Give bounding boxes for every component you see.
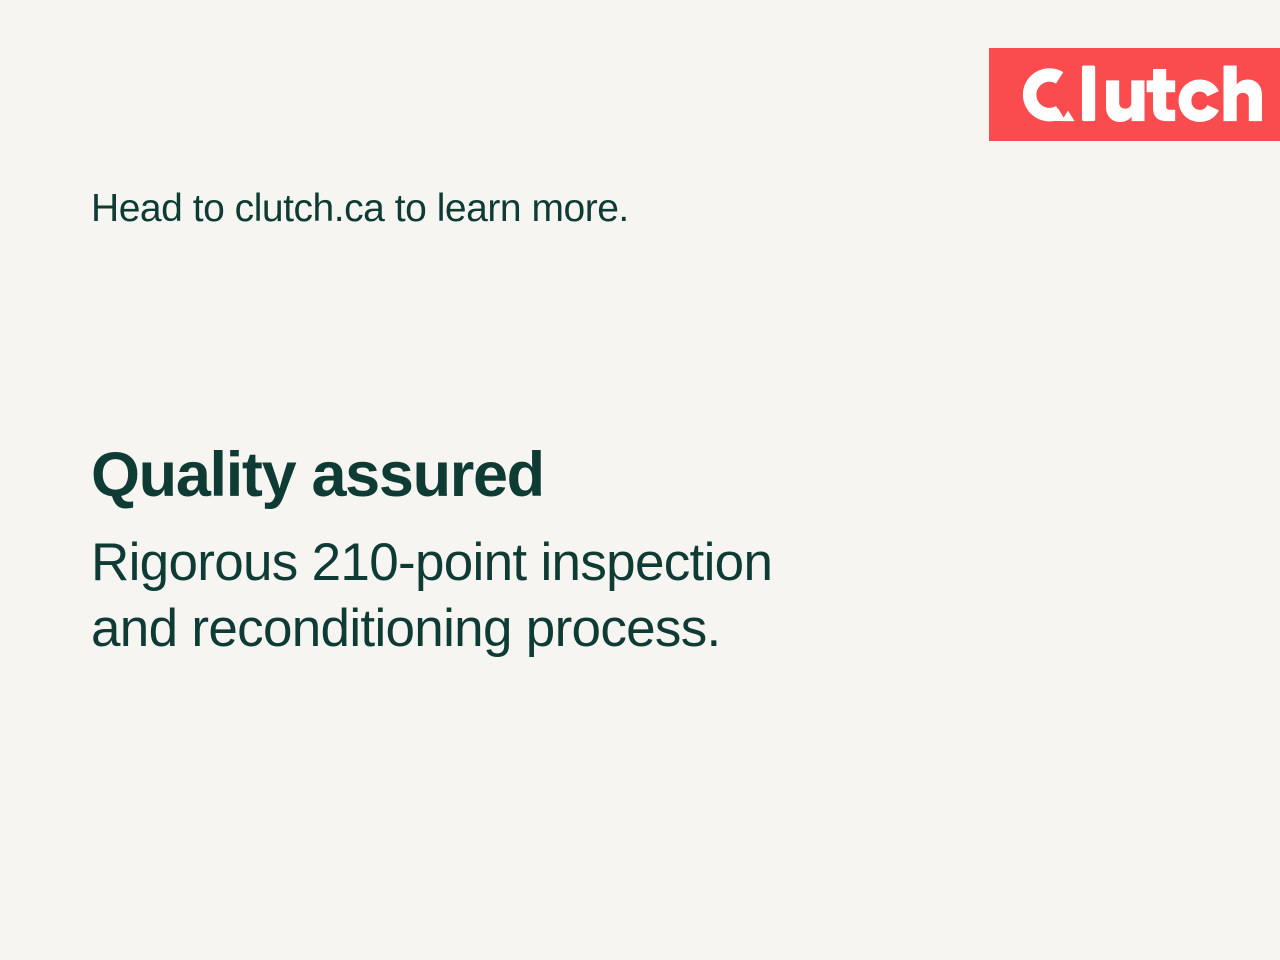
feature-description: Rigorous 210-point inspection and recond… <box>91 530 1091 662</box>
letter-c-2 <box>1179 79 1219 122</box>
feature-message-block: Quality assured Rigorous 210-point inspe… <box>91 437 1091 662</box>
feature-heading: Quality assured <box>91 437 1091 513</box>
letter-t <box>1147 69 1176 121</box>
clutch-logo-badge[interactable] <box>989 48 1280 141</box>
lead-line: Head to clutch.ca to learn more. <box>91 181 629 237</box>
clutch-c-wedge-icon <box>1023 68 1075 121</box>
feature-description-line-1: Rigorous 210-point inspection <box>91 530 1091 596</box>
letter-h <box>1224 65 1263 121</box>
letter-u <box>1106 80 1145 122</box>
clutch-wordmark-icon <box>1020 65 1246 125</box>
letter-l <box>1082 65 1095 121</box>
slide-canvas: Head to clutch.ca to learn more. Quality… <box>0 0 1280 960</box>
feature-description-line-2: and reconditioning process. <box>91 596 1091 662</box>
